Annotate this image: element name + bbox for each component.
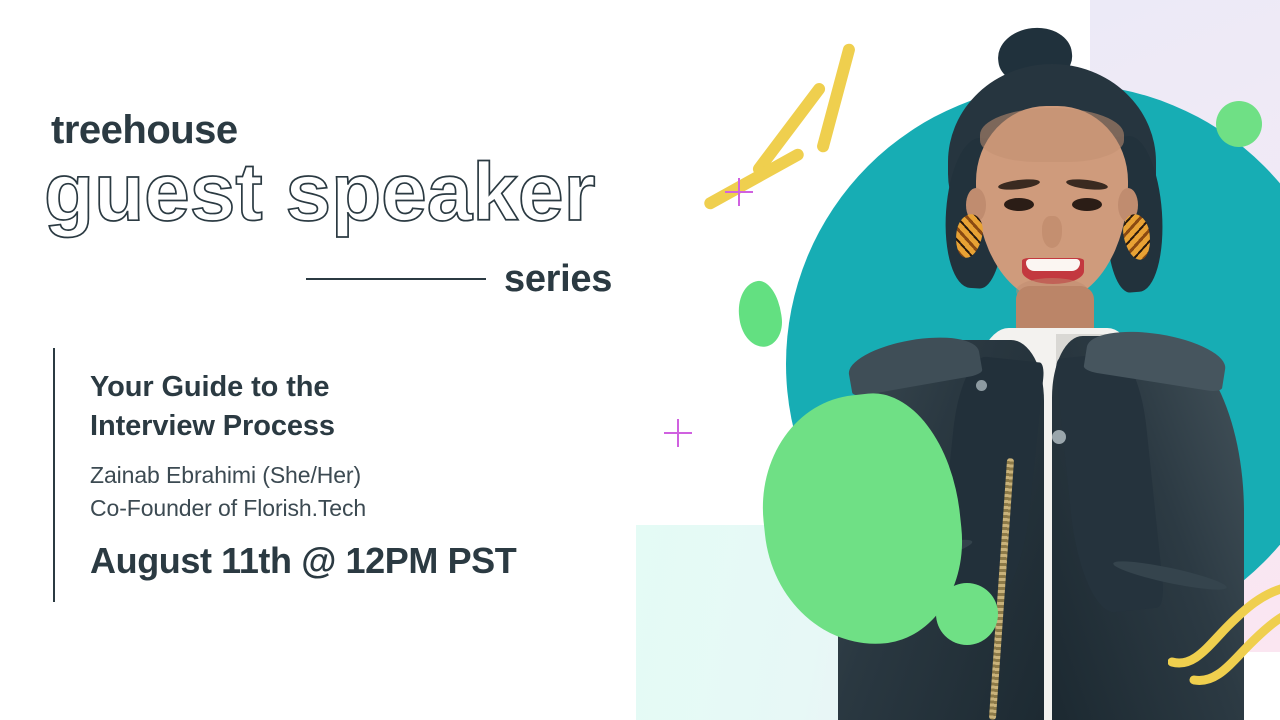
- plus-mark-icon-2: [664, 419, 692, 447]
- event-title-line-1: Your Guide to the: [90, 368, 630, 407]
- vertical-divider: [53, 348, 55, 602]
- speaker-role: Co-Founder of Florish.Tech: [90, 492, 630, 525]
- headline-outline: guest speaker: [44, 152, 596, 234]
- sparkle-strokes-icon-3: [702, 147, 806, 212]
- plus-mark-icon-1: [725, 178, 753, 206]
- event-title-line-2: Interview Process: [90, 407, 630, 446]
- slide-canvas: treehouse guest speaker series Your Guid…: [0, 0, 1280, 720]
- series-divider-rule: [306, 278, 486, 280]
- organic-blob-icon-small: [735, 278, 786, 349]
- organic-blob-icon-dot: [936, 583, 998, 645]
- wavy-lines-icon: [1168, 576, 1280, 686]
- series-row: series: [306, 254, 626, 304]
- speaker-name: Zainab Ebrahimi (She/Her): [90, 459, 630, 492]
- event-title: Your Guide to the Interview Process: [90, 368, 630, 445]
- event-date-time: August 11th @ 12PM PST: [90, 540, 630, 582]
- event-info-block: Your Guide to the Interview Process Zain…: [90, 368, 630, 582]
- series-word: series: [504, 258, 612, 301]
- speaker-details: Zainab Ebrahimi (She/Her) Co-Founder of …: [90, 459, 630, 524]
